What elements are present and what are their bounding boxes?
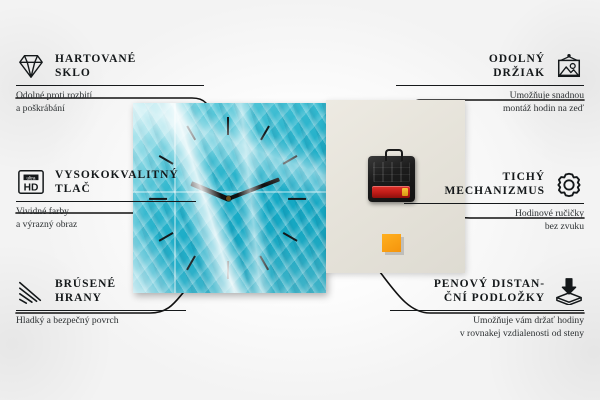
feature-title: VYSOKOKVALITNÝ TLAČ [55, 168, 179, 196]
feature-hd-print: ultra HD VYSOKOKVALITNÝ TLAČ Vividné far… [16, 168, 196, 231]
clock-tick [283, 232, 298, 242]
svg-text:HD: HD [24, 182, 39, 193]
feature-description: Hodinové ručičky bez zvuku [404, 208, 584, 233]
diagonal-lines-icon [16, 277, 46, 305]
feature-title: BRÚSENÉ HRANY [55, 277, 116, 305]
feature-divider [16, 310, 186, 311]
feature-ground-edges: BRÚSENÉ HRANY Hladký a bezpečný povrch [16, 277, 186, 328]
feature-description: Odolné proti rozbití a poškrábání [16, 90, 204, 115]
feature-title: PENOVÝ DISTAN- ČNÍ PODLOŽKY [434, 277, 545, 305]
infographic-canvas: HARTOVANÉ SKLO Odolné proti rozbití a po… [0, 0, 600, 400]
feature-description: Umožňuje vám držať hodiny v rovnakej vzd… [390, 315, 584, 340]
clock-tick [227, 261, 229, 279]
clock-tick [159, 155, 174, 165]
feature-foam-spacers: PENOVÝ DISTAN- ČNÍ PODLOŽKY Umožňuje vám… [390, 277, 584, 340]
feature-durable-hanger: ODOLNÝ DRŽIAK Umožňuje snadnou montáž ho… [396, 52, 584, 115]
clock-tick [283, 155, 298, 165]
feature-description: Vividné farby a výrazný obraz [16, 206, 196, 231]
feature-divider [390, 310, 584, 311]
svg-text:ultra: ultra [26, 175, 35, 180]
diamond-icon [16, 52, 46, 80]
feature-title: TICHÝ MECHANIZMUS [444, 170, 545, 198]
feature-divider [404, 203, 584, 204]
feature-divider [16, 201, 196, 202]
clock-tick [288, 198, 306, 200]
clock-tick [186, 126, 196, 141]
arrow-onto-pad-icon [554, 277, 584, 305]
feature-silent-mechanism: TICHÝ MECHANIZMUS Hodinové ručičky bez z… [404, 170, 584, 233]
feature-tempered-glass: HARTOVANÉ SKLO Odolné proti rozbití a po… [16, 52, 204, 115]
hanger-loop [385, 149, 403, 161]
clock-tick [259, 256, 269, 271]
foam-spacer-pad [382, 234, 401, 252]
clock-tick [260, 126, 270, 141]
clock-tick [159, 232, 174, 242]
feature-divider [396, 85, 584, 86]
hanging-picture-frame-icon [554, 52, 584, 80]
gear-icon [554, 170, 584, 198]
feature-description: Umožňuje snadnou montáž hodin na zeď [396, 90, 584, 115]
clock-tick [186, 256, 196, 271]
feature-title: HARTOVANÉ SKLO [55, 52, 136, 80]
feature-title: ODOLNÝ DRŽIAK [489, 52, 545, 80]
ultra-hd-badge-icon: ultra HD [16, 168, 46, 196]
feature-divider [16, 85, 204, 86]
clock-minute-hand [227, 177, 280, 201]
feature-description: Hladký a bezpečný povrch [16, 315, 186, 327]
clock-tick [227, 117, 229, 135]
clock-center-pin [226, 196, 231, 201]
clock-hour-hand [190, 182, 229, 202]
